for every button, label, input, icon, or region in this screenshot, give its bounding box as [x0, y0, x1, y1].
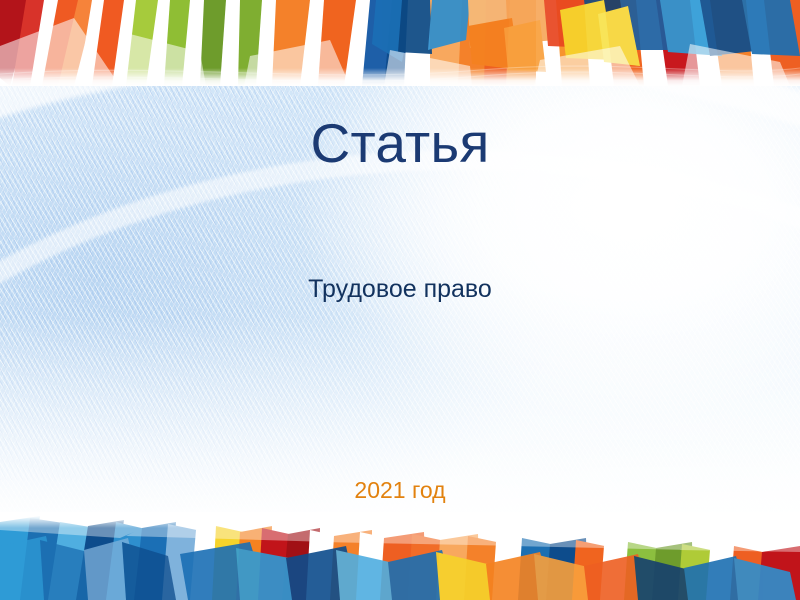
top-decorative-band	[0, 0, 800, 86]
slide-year: 2021 год	[0, 477, 800, 505]
slide-title: Статья	[0, 114, 800, 173]
top-band-graphic	[0, 0, 800, 86]
bottom-decorative-band	[0, 512, 800, 600]
bottom-band-graphic	[0, 512, 800, 600]
presentation-slide: Статья Трудовое право 2021 год	[0, 0, 800, 600]
slide-subtitle: Трудовое право	[0, 274, 800, 304]
